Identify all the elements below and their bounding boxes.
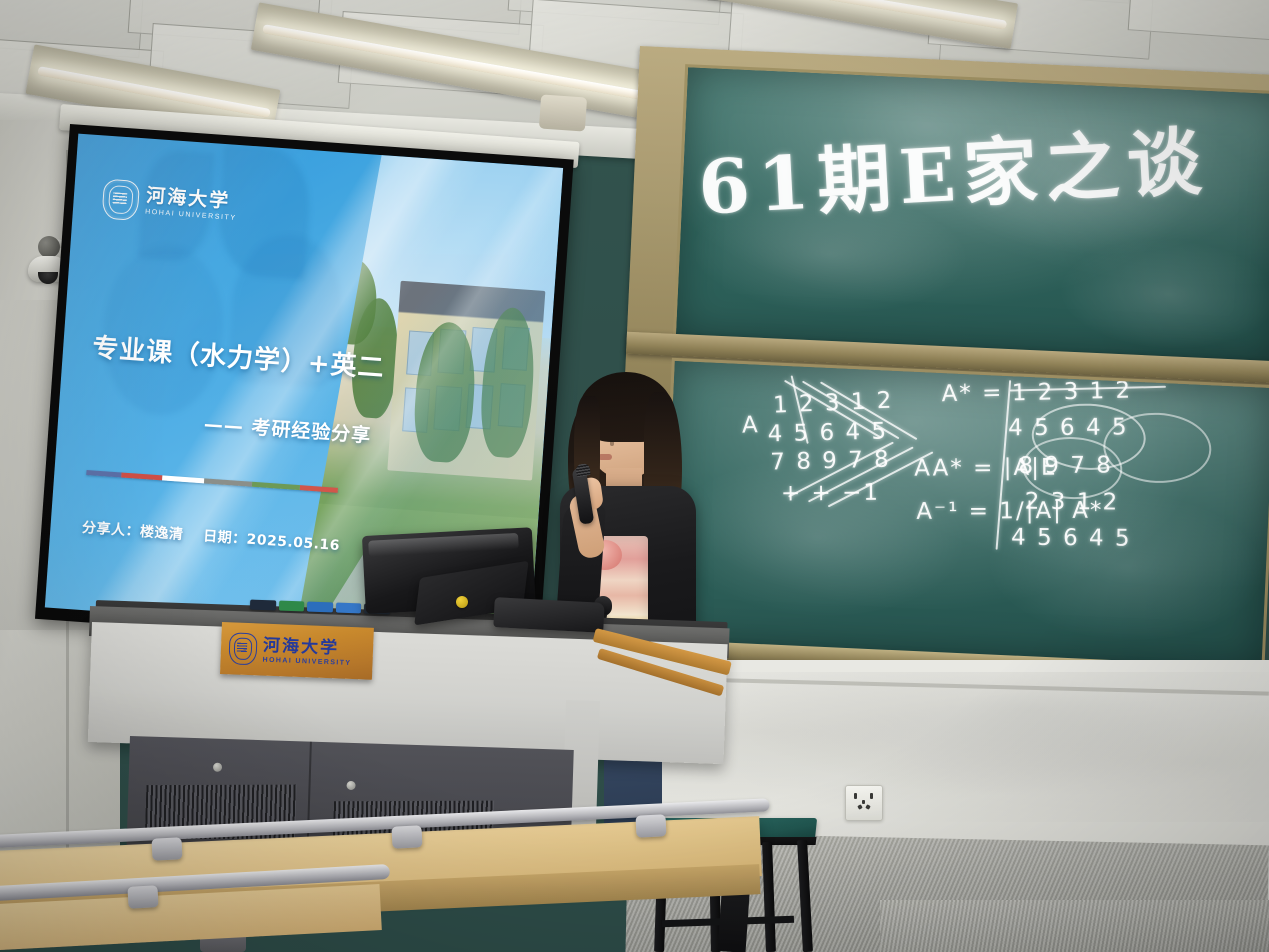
blackboard-panel-lower: A 1 2 3 1 2 4 5 6 4 5 7 8 9 7 8 + + −1 A… — [659, 358, 1269, 671]
stool-leg-4 — [797, 840, 813, 952]
cabinet-lock-right[interactable] — [346, 781, 355, 790]
ceiling-light-fixture-far — [600, 0, 1020, 34]
cabinet-lock-left[interactable] — [213, 763, 222, 772]
presenter-mouth — [598, 454, 612, 460]
projection-screen-roller[interactable] — [539, 94, 587, 131]
wall-power-outlet[interactable] — [845, 785, 883, 821]
slide-logo-cn: 河海大学 — [146, 187, 239, 212]
blackboard-headline: 61期E家之谈 — [695, 102, 1211, 236]
microphone-grille — [575, 463, 591, 477]
marker-green[interactable] — [278, 601, 304, 612]
slide-logo: 河海大学 HOHAI UNIVERSITY — [102, 178, 239, 227]
desk-rail-clamp-front — [127, 885, 158, 909]
hohai-emblem-icon — [102, 178, 141, 220]
podium-nameplate: 河海大学 HOHAI UNIVERSITY — [220, 622, 374, 680]
podium-plaque-en: HOHAI UNIVERSITY — [262, 656, 351, 666]
podium-equipment-case — [493, 597, 604, 633]
marker-blue[interactable] — [307, 602, 333, 613]
classroom-photo-scene: 61期E家之谈 A 1 2 3 1 2 4 5 6 4 5 7 8 9 7 8 … — [0, 0, 1269, 952]
desk-rail-clamp-2 — [391, 825, 422, 848]
desk-rail-clamp-1 — [151, 837, 182, 860]
stool-leg-3 — [762, 842, 776, 952]
hohai-emblem-plaque-icon — [228, 632, 257, 665]
blackboard-panel-upper: 61期E家之谈 — [673, 64, 1269, 365]
camera-mount-knuckle — [38, 236, 60, 258]
monitor-arm-knob[interactable] — [456, 596, 468, 608]
slide-accent-bar — [86, 470, 338, 493]
desk-rail-clamp-3 — [635, 814, 666, 837]
slide-footer: 分享人：楼逸清 日期：2025.05.16 — [81, 517, 340, 555]
floor — [880, 900, 1269, 952]
podium-plaque-cn: 河海大学 — [263, 636, 353, 656]
marker-blue-2[interactable] — [336, 603, 362, 614]
marker-black[interactable] — [250, 600, 276, 611]
